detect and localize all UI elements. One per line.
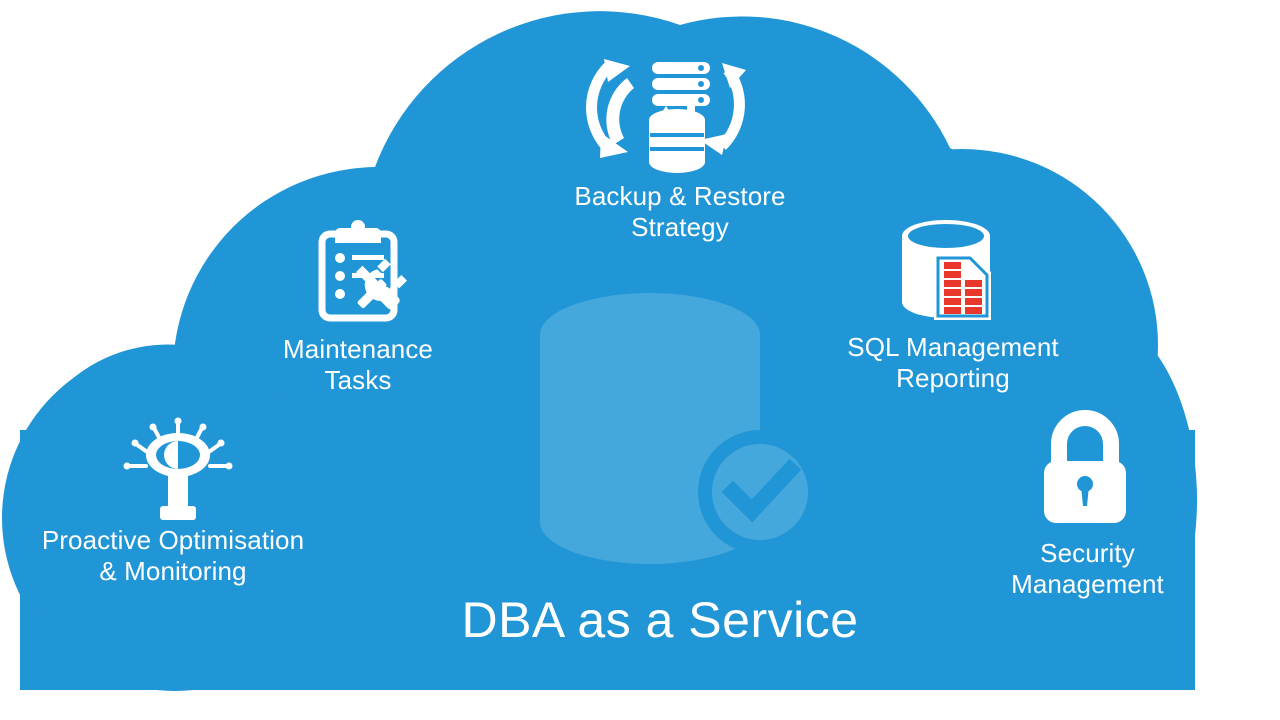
infographic-canvas: Backup & Restore Strategy Maintenance Ta…	[0, 0, 1280, 720]
service-label-security-management: Security Management	[945, 538, 1230, 600]
service-label-line1: Proactive Optimisation	[18, 525, 328, 556]
diagram-title: DBA as a Service	[390, 592, 930, 648]
service-label-line2: Tasks	[213, 365, 503, 396]
service-label-sql-management-reporting: SQL Management Reporting	[803, 332, 1103, 394]
service-label-line1: Backup & Restore	[505, 181, 855, 212]
service-label-line2: & Monitoring	[18, 556, 328, 587]
service-label-line1: Maintenance	[213, 334, 503, 365]
service-label-maintenance-tasks: Maintenance Tasks	[213, 334, 503, 396]
service-label-line2: Management	[945, 569, 1230, 600]
service-label-line2: Strategy	[505, 212, 855, 243]
service-label-proactive-optimisation-monitoring: Proactive Optimisation & Monitoring	[18, 525, 328, 587]
service-label-line1: Security	[945, 538, 1230, 569]
service-label-backup-restore-strategy: Backup & Restore Strategy	[505, 181, 855, 243]
service-label-line1: SQL Management	[803, 332, 1103, 363]
service-label-line2: Reporting	[803, 363, 1103, 394]
database-report-icon	[902, 220, 991, 320]
